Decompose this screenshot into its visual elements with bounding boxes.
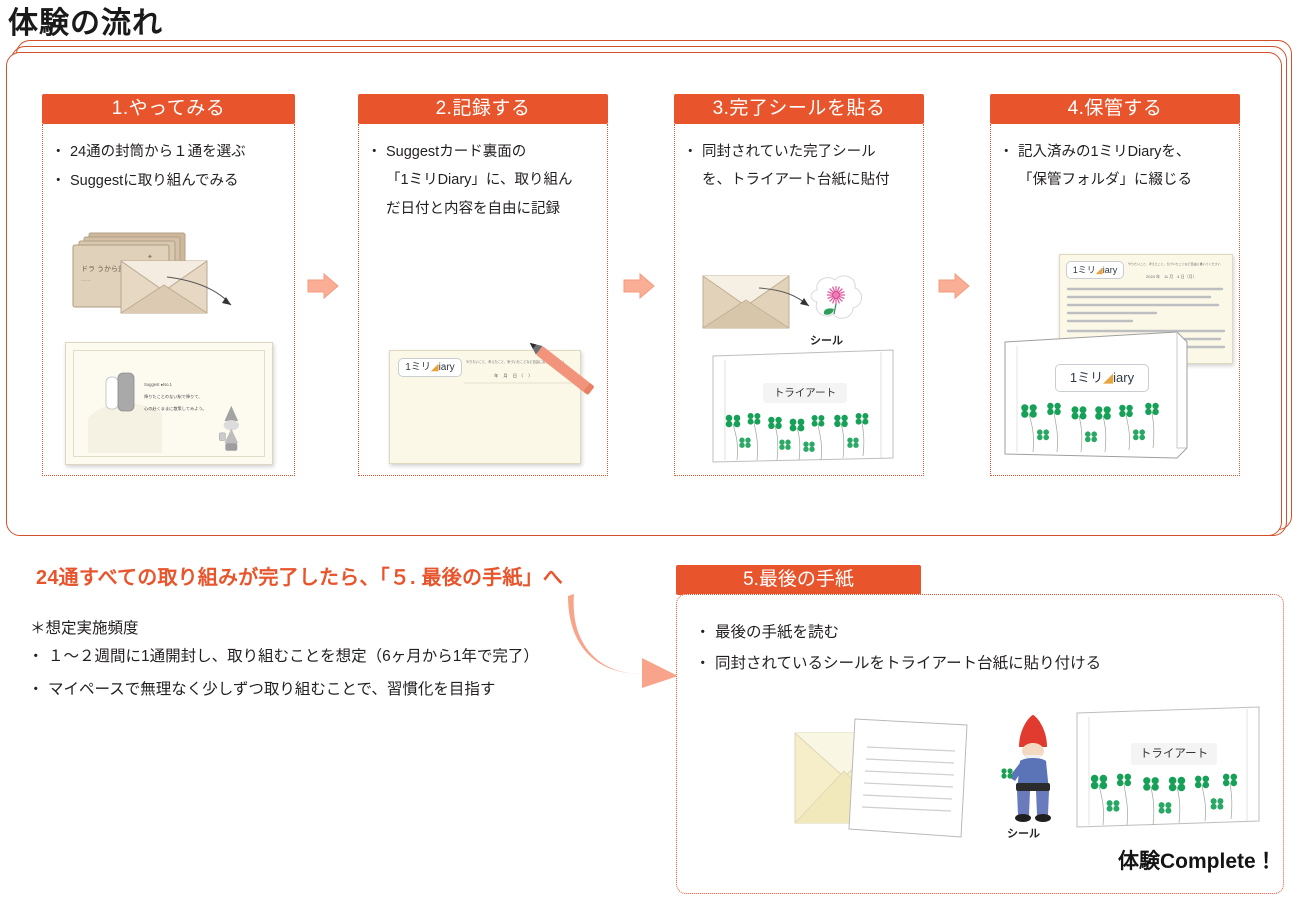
list-item: Suggestに取り組んでみる [51,167,284,195]
letter-envelope-illustration [789,705,989,845]
svg-text:✦: ✦ [147,253,153,261]
list-item: 最後の手紙を読む [695,617,1283,648]
step-1-header: 1.やってみる [42,94,295,124]
list-item: 同封されていた完了シール を、トライアート台紙に貼付 [683,138,913,195]
step-4-body: 記入済みの1ミリDiaryを、 「保管フォルダ」に綴じる 1ミリ◢iary やり… [990,124,1240,476]
storage-folder-illustration: 1ミリ◢iary [999,320,1199,462]
note-list: １～２週間に1通開封し、取り組むことを想定（6ヶ月から1年で完了） マイペースで… [28,640,539,707]
arrow-right-icon [622,272,652,298]
note-heading: ＊想定実施頻度 [30,616,139,638]
step-card-1[interactable]: 1.やってみる 24通の封筒から１通を選ぶ Suggestに取り組んでみる ドラ… [42,94,295,476]
step-3-bullets: 同封されていた完了シール を、トライアート台紙に貼付 [675,124,923,195]
suggest-card-title: Suggest ●No.1 [144,382,172,388]
list-item: 記入済みの1ミリDiaryを、 「保管フォルダ」に綴じる [999,138,1229,195]
tryart-board-illustration: トライアート [1069,703,1269,833]
step-2-body: Suggestカード裏面の 「1ミリDiary」に、取り組ん だ日付と内容を自由… [358,124,608,476]
list-item: １～２週間に1通開封し、取り組むことを想定（6ヶ月から1年で完了） [28,640,539,673]
step-3-body: 同封されていた完了シール を、トライアート台紙に貼付 [674,124,924,476]
list-item: マイペースで無理なく少しずつ取り組むことで、習慣化を目指す [28,673,539,706]
complete-text: 体験Complete！ [1118,845,1277,875]
infographic-page: 体験の流れ 1.やってみる 24通の封筒から１通を選ぶ Suggestに取り組ん… [0,0,1300,900]
page-title: 体験の流れ [8,0,163,42]
arrow-right-icon [937,272,967,298]
arrow-right-icon [306,272,336,298]
list-item: Suggestカード裏面の 「1ミリDiary」に、取り組ん だ日付と内容を自由… [367,138,597,223]
tryart-board-label: トライアート [763,383,847,403]
suggest-card-line2: 心の赴くままに散策してみよう。 [144,406,206,412]
seal-label: シール [1007,825,1040,841]
step-1-bullets: 24通の封筒から１通を選ぶ Suggestに取り組んでみる [43,124,294,196]
step-card-4[interactable]: 4.保管する 記入済みの1ミリDiaryを、 「保管フォルダ」に綴じる 1ミリ◢… [990,94,1240,476]
step-5-bullets: 最後の手紙を読む 同封されているシールをトライアート台紙に貼り付ける [677,595,1283,679]
cta-text: 24通すべての取り組みが完了したら、「５. 最後の手紙」へ [36,561,563,590]
suggest-card-line1: 降りたことのない駅で降りて、 [144,394,202,400]
list-item: 同封されているシールをトライアート台紙に貼り付ける [695,648,1283,679]
step-4-bullets: 記入済みの1ミリDiaryを、 「保管フォルダ」に綴じる [991,124,1239,195]
step-1-body: 24通の封筒から１通を選ぶ Suggestに取り組んでみる ドラ うから差入れ … [42,124,295,476]
tryart-board-illustration: トライアート [705,346,901,466]
step-2-header: 2.記録する [358,94,608,124]
step-card-2[interactable]: 2.記録する Suggestカード裏面の 「1ミリDiary」に、取り組ん だ日… [358,94,608,476]
list-item: 24通の封筒から１通を選ぶ [51,138,284,166]
tryart-board-label: トライアート [1131,743,1217,765]
step-2-bullets: Suggestカード裏面の 「1ミリDiary」に、取り組ん だ日付と内容を自由… [359,124,607,223]
pencil-icon [509,324,619,414]
envelope-stack-illustration: ドラ うから差入れ ✦ ······ [59,229,279,329]
step-3-header: 3.完了シールを貼る [674,94,924,124]
gnome-seal-illustration: シール [995,715,1075,845]
step-5-header: 5.最後の手紙 [676,565,921,595]
step-card-3[interactable]: 3.完了シールを貼る 同封されていた完了シール を、トライアート台紙に貼付 [674,94,924,476]
storage-folder-label: 1ミリ◢iary [1055,364,1149,392]
curved-arrow-icon [566,588,686,688]
svg-text:······: ······ [81,278,91,284]
step-4-header: 4.保管する [990,94,1240,124]
suggest-card-illustration: Suggest ●No.1 降りたことのない駅で降りて、 心の赴くままに散策して… [65,342,273,465]
